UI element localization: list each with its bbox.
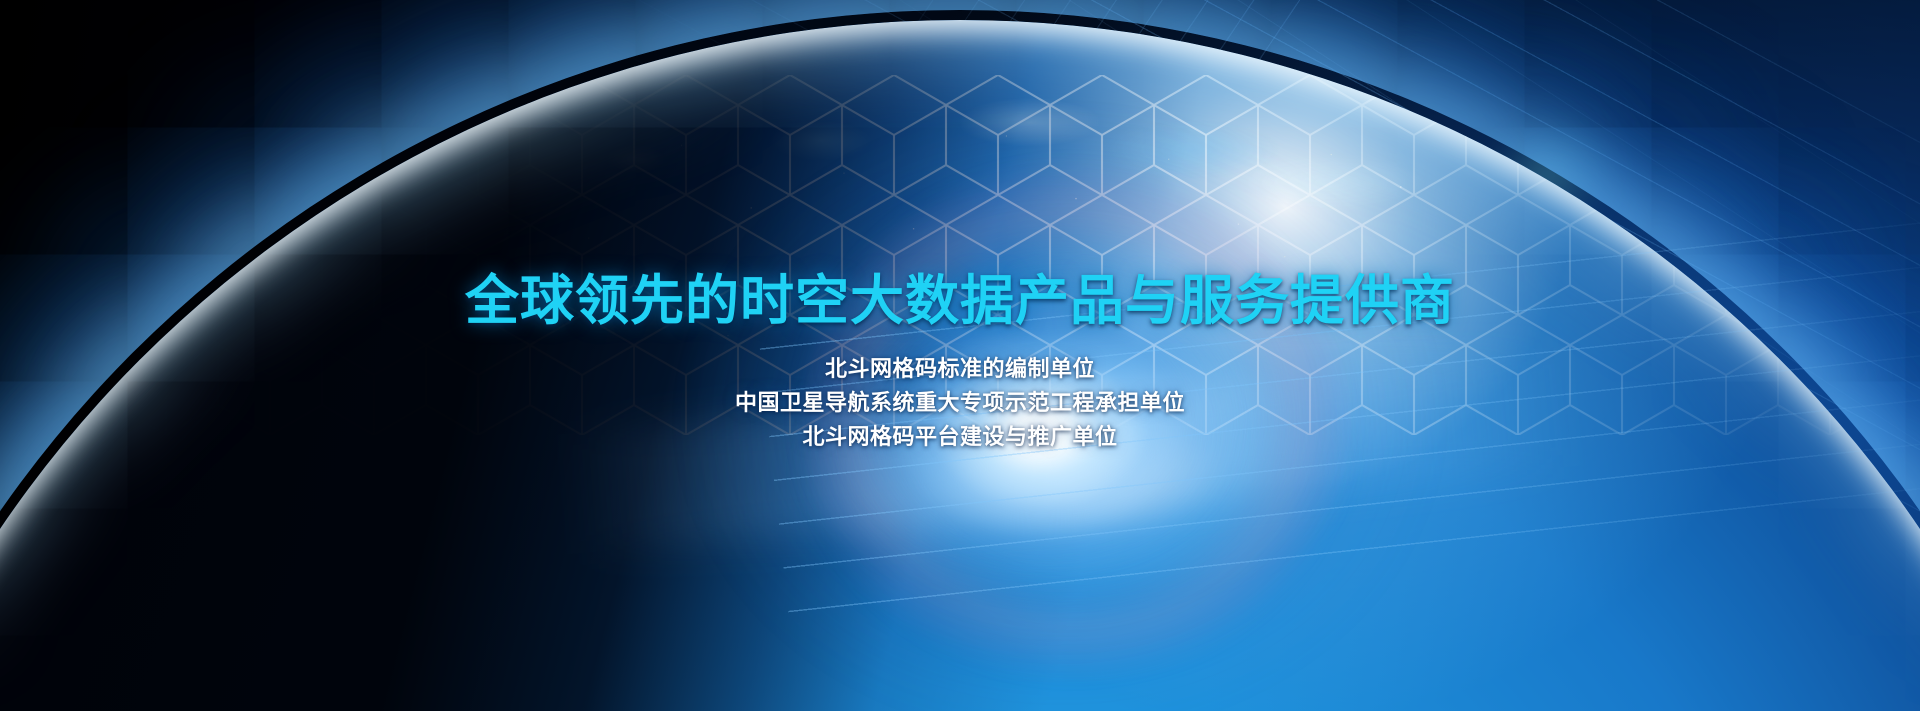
hero-subtitle-list: 北斗网格码标准的编制单位 中国卫星导航系统重大专项示范工程承担单位 北斗网格码平… — [735, 352, 1185, 454]
hero-subtitle-line-1: 北斗网格码标准的编制单位 — [735, 352, 1185, 386]
hero-subtitle-line-2: 中国卫星导航系统重大专项示范工程承担单位 — [735, 386, 1185, 420]
hero-banner: 全球领先的时空大数据产品与服务提供商 北斗网格码标准的编制单位 中国卫星导航系统… — [0, 0, 1920, 711]
hero-headline: 全球领先的时空大数据产品与服务提供商 — [465, 256, 1455, 335]
hero-subtitle-line-3: 北斗网格码平台建设与推广单位 — [735, 420, 1185, 454]
